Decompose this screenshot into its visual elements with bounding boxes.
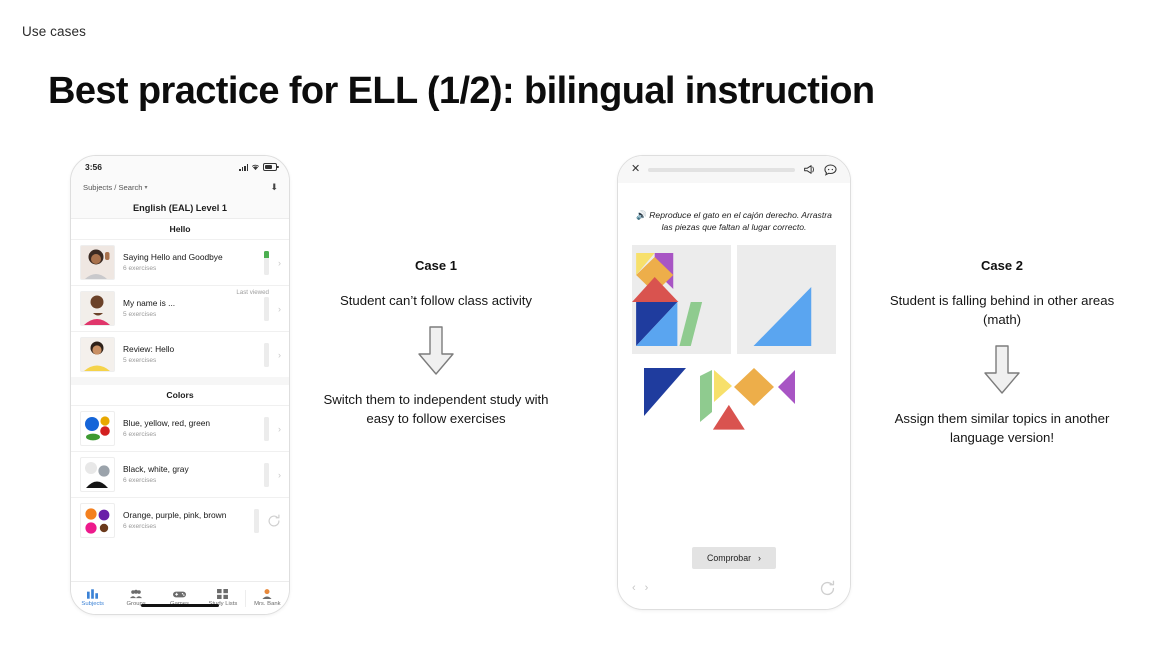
speaker-icon[interactable]: 🔊 xyxy=(636,210,647,220)
piece-orange-diamond xyxy=(734,368,774,406)
bottom-tab-bar[interactable]: Subjects Groups xyxy=(71,581,289,614)
lesson-exercise-count: 6 exercises xyxy=(123,265,256,272)
chevron-right-icon[interactable]: › xyxy=(277,258,281,268)
chevron-right-icon[interactable]: › xyxy=(277,350,281,360)
tab-label: Subjects xyxy=(81,601,104,607)
piece-purple-triangle xyxy=(778,370,795,404)
list-item[interactable]: Black, white, gray 6 exercises › xyxy=(71,451,289,497)
breadcrumb-row: Subjects / Search ▾ ⬇ xyxy=(71,178,289,197)
tangram-board-right[interactable] xyxy=(737,245,836,354)
lesson-thumbnail xyxy=(80,503,115,538)
megaphone-icon[interactable] xyxy=(803,164,816,175)
case-problem-text: Student is falling behind in other areas… xyxy=(887,291,1117,329)
check-button-label: Comprobar xyxy=(707,553,751,563)
battery-icon xyxy=(263,163,277,172)
progress-bar xyxy=(264,297,269,321)
case-title: Case 2 xyxy=(887,258,1117,273)
left-phone-mockup: 3:56 Subjects / Search ▾ ⬇ xyxy=(70,155,290,615)
lesson-exercise-count: 5 exercises xyxy=(123,311,256,318)
progress-bar xyxy=(264,463,269,487)
status-badge: Last viewed xyxy=(236,289,269,296)
case-2-block: Case 2 Student is falling behind in othe… xyxy=(887,258,1117,448)
status-bar: 3:56 xyxy=(71,156,289,178)
signal-icon xyxy=(239,164,248,171)
lesson-exercise-count: 5 exercises xyxy=(123,357,256,364)
subject-title: English (EAL) Level 1 xyxy=(71,197,289,219)
list-item[interactable]: Review: Hello 5 exercises › xyxy=(71,331,289,377)
lesson-name: Black, white, gray xyxy=(123,465,256,475)
lesson-thumbnail xyxy=(80,245,115,280)
down-arrow-icon xyxy=(321,326,551,376)
refresh-icon[interactable] xyxy=(819,580,836,597)
avatar-icon xyxy=(262,589,272,599)
exercise-prompt: 🔊 Reproduce el gato en el cajón derecho.… xyxy=(632,209,836,234)
close-icon[interactable]: ✕ xyxy=(631,164,640,175)
case-1-block: Case 1 Student can’t follow class activi… xyxy=(321,258,551,428)
lesson-thumbnail xyxy=(80,291,115,326)
page-title: Best practice for ELL (1/2): bilingual i… xyxy=(48,70,875,113)
section-heading: Colors xyxy=(71,385,289,405)
piece-red-triangle xyxy=(713,405,745,430)
lesson-name: Review: Hello xyxy=(123,345,256,355)
lesson-name: Orange, purple, pink, brown xyxy=(123,511,246,521)
exercise-footer: ‹ › xyxy=(618,573,850,609)
lesson-name: Saying Hello and Goodbye xyxy=(123,253,256,263)
tab-profile[interactable]: Mrs. Bank xyxy=(246,589,289,607)
tab-label: Mrs. Bank xyxy=(254,601,281,607)
case-problem-text: Student can’t follow class activity xyxy=(321,291,551,310)
groups-icon xyxy=(130,589,142,599)
lesson-list[interactable]: Hello Saying Hello and Goodbye 6 xyxy=(71,219,289,581)
down-arrow-icon xyxy=(887,345,1117,395)
progress-bar xyxy=(264,251,269,275)
lesson-exercise-count: 6 exercises xyxy=(123,523,246,530)
progress-bar xyxy=(264,343,269,367)
chevron-right-icon[interactable]: › xyxy=(277,470,281,480)
lesson-thumbnail xyxy=(80,337,115,372)
wifi-icon xyxy=(251,163,260,171)
study-lists-icon xyxy=(217,589,228,599)
subjects-icon xyxy=(87,589,98,599)
lesson-thumbnail xyxy=(80,457,115,492)
case-solution-text: Assign them similar topics in another la… xyxy=(887,409,1117,447)
right-phone-mockup: ✕ 🔊 Reproduce el gato en el xyxy=(617,155,851,610)
chevron-right-icon: › xyxy=(758,553,761,563)
piece-yellow-triangle xyxy=(714,370,732,402)
slide-root: Use cases Best practice for ELL (1/2): b… xyxy=(0,0,1170,658)
check-button[interactable]: Comprobar › xyxy=(692,547,776,569)
tab-subjects[interactable]: Subjects xyxy=(71,589,114,607)
home-indicator xyxy=(141,604,219,607)
list-item[interactable]: Blue, yellow, red, green 6 exercises › xyxy=(71,405,289,451)
download-arrow-icon[interactable]: ⬇ xyxy=(270,182,278,193)
piece-green-parallelogram xyxy=(700,370,712,422)
lesson-exercise-count: 6 exercises xyxy=(123,477,256,484)
lesson-name: Blue, yellow, red, green xyxy=(123,419,256,429)
exercise-progress-bar xyxy=(648,168,795,172)
lesson-thumbnail xyxy=(80,411,115,446)
chevron-left-icon[interactable]: ‹ xyxy=(632,582,636,594)
breadcrumb[interactable]: Subjects / Search ▾ xyxy=(83,183,148,192)
section-divider xyxy=(71,377,289,385)
games-icon xyxy=(173,590,186,599)
section-heading: Hello xyxy=(71,219,289,239)
breadcrumb-label: Subjects / Search xyxy=(83,183,143,192)
tangram-boards xyxy=(632,245,836,354)
exercise-prompt-text: Reproduce el gato en el cajón derecho. A… xyxy=(649,210,832,232)
case-solution-text: Switch them to independent study with ea… xyxy=(321,390,551,428)
list-item[interactable]: Orange, purple, pink, brown 6 exercises xyxy=(71,497,289,543)
progress-bar xyxy=(254,509,259,533)
case-title: Case 1 xyxy=(321,258,551,273)
chevron-right-icon[interactable]: › xyxy=(645,582,649,594)
tangram-board-left[interactable] xyxy=(632,245,731,354)
piece-dark-blue-triangle xyxy=(644,368,686,416)
chevron-right-icon[interactable]: › xyxy=(277,424,281,434)
lesson-name: My name is ... xyxy=(123,299,256,309)
list-item[interactable]: Saying Hello and Goodbye 6 exercises › xyxy=(71,239,289,285)
lesson-exercise-count: 6 exercises xyxy=(123,431,256,438)
chevron-down-icon: ▾ xyxy=(145,184,148,191)
tangram-piece-tray[interactable] xyxy=(632,362,836,440)
exercise-top-bar: ✕ xyxy=(618,156,850,183)
progress-bar xyxy=(264,417,269,441)
chat-bubble-icon[interactable] xyxy=(824,164,837,176)
refresh-icon[interactable] xyxy=(267,514,281,528)
status-time: 3:56 xyxy=(85,162,102,172)
chevron-right-icon[interactable]: › xyxy=(277,304,281,314)
list-item[interactable]: Last viewed My name is ... 5 exercises xyxy=(71,285,289,331)
eyebrow-label: Use cases xyxy=(22,24,86,39)
